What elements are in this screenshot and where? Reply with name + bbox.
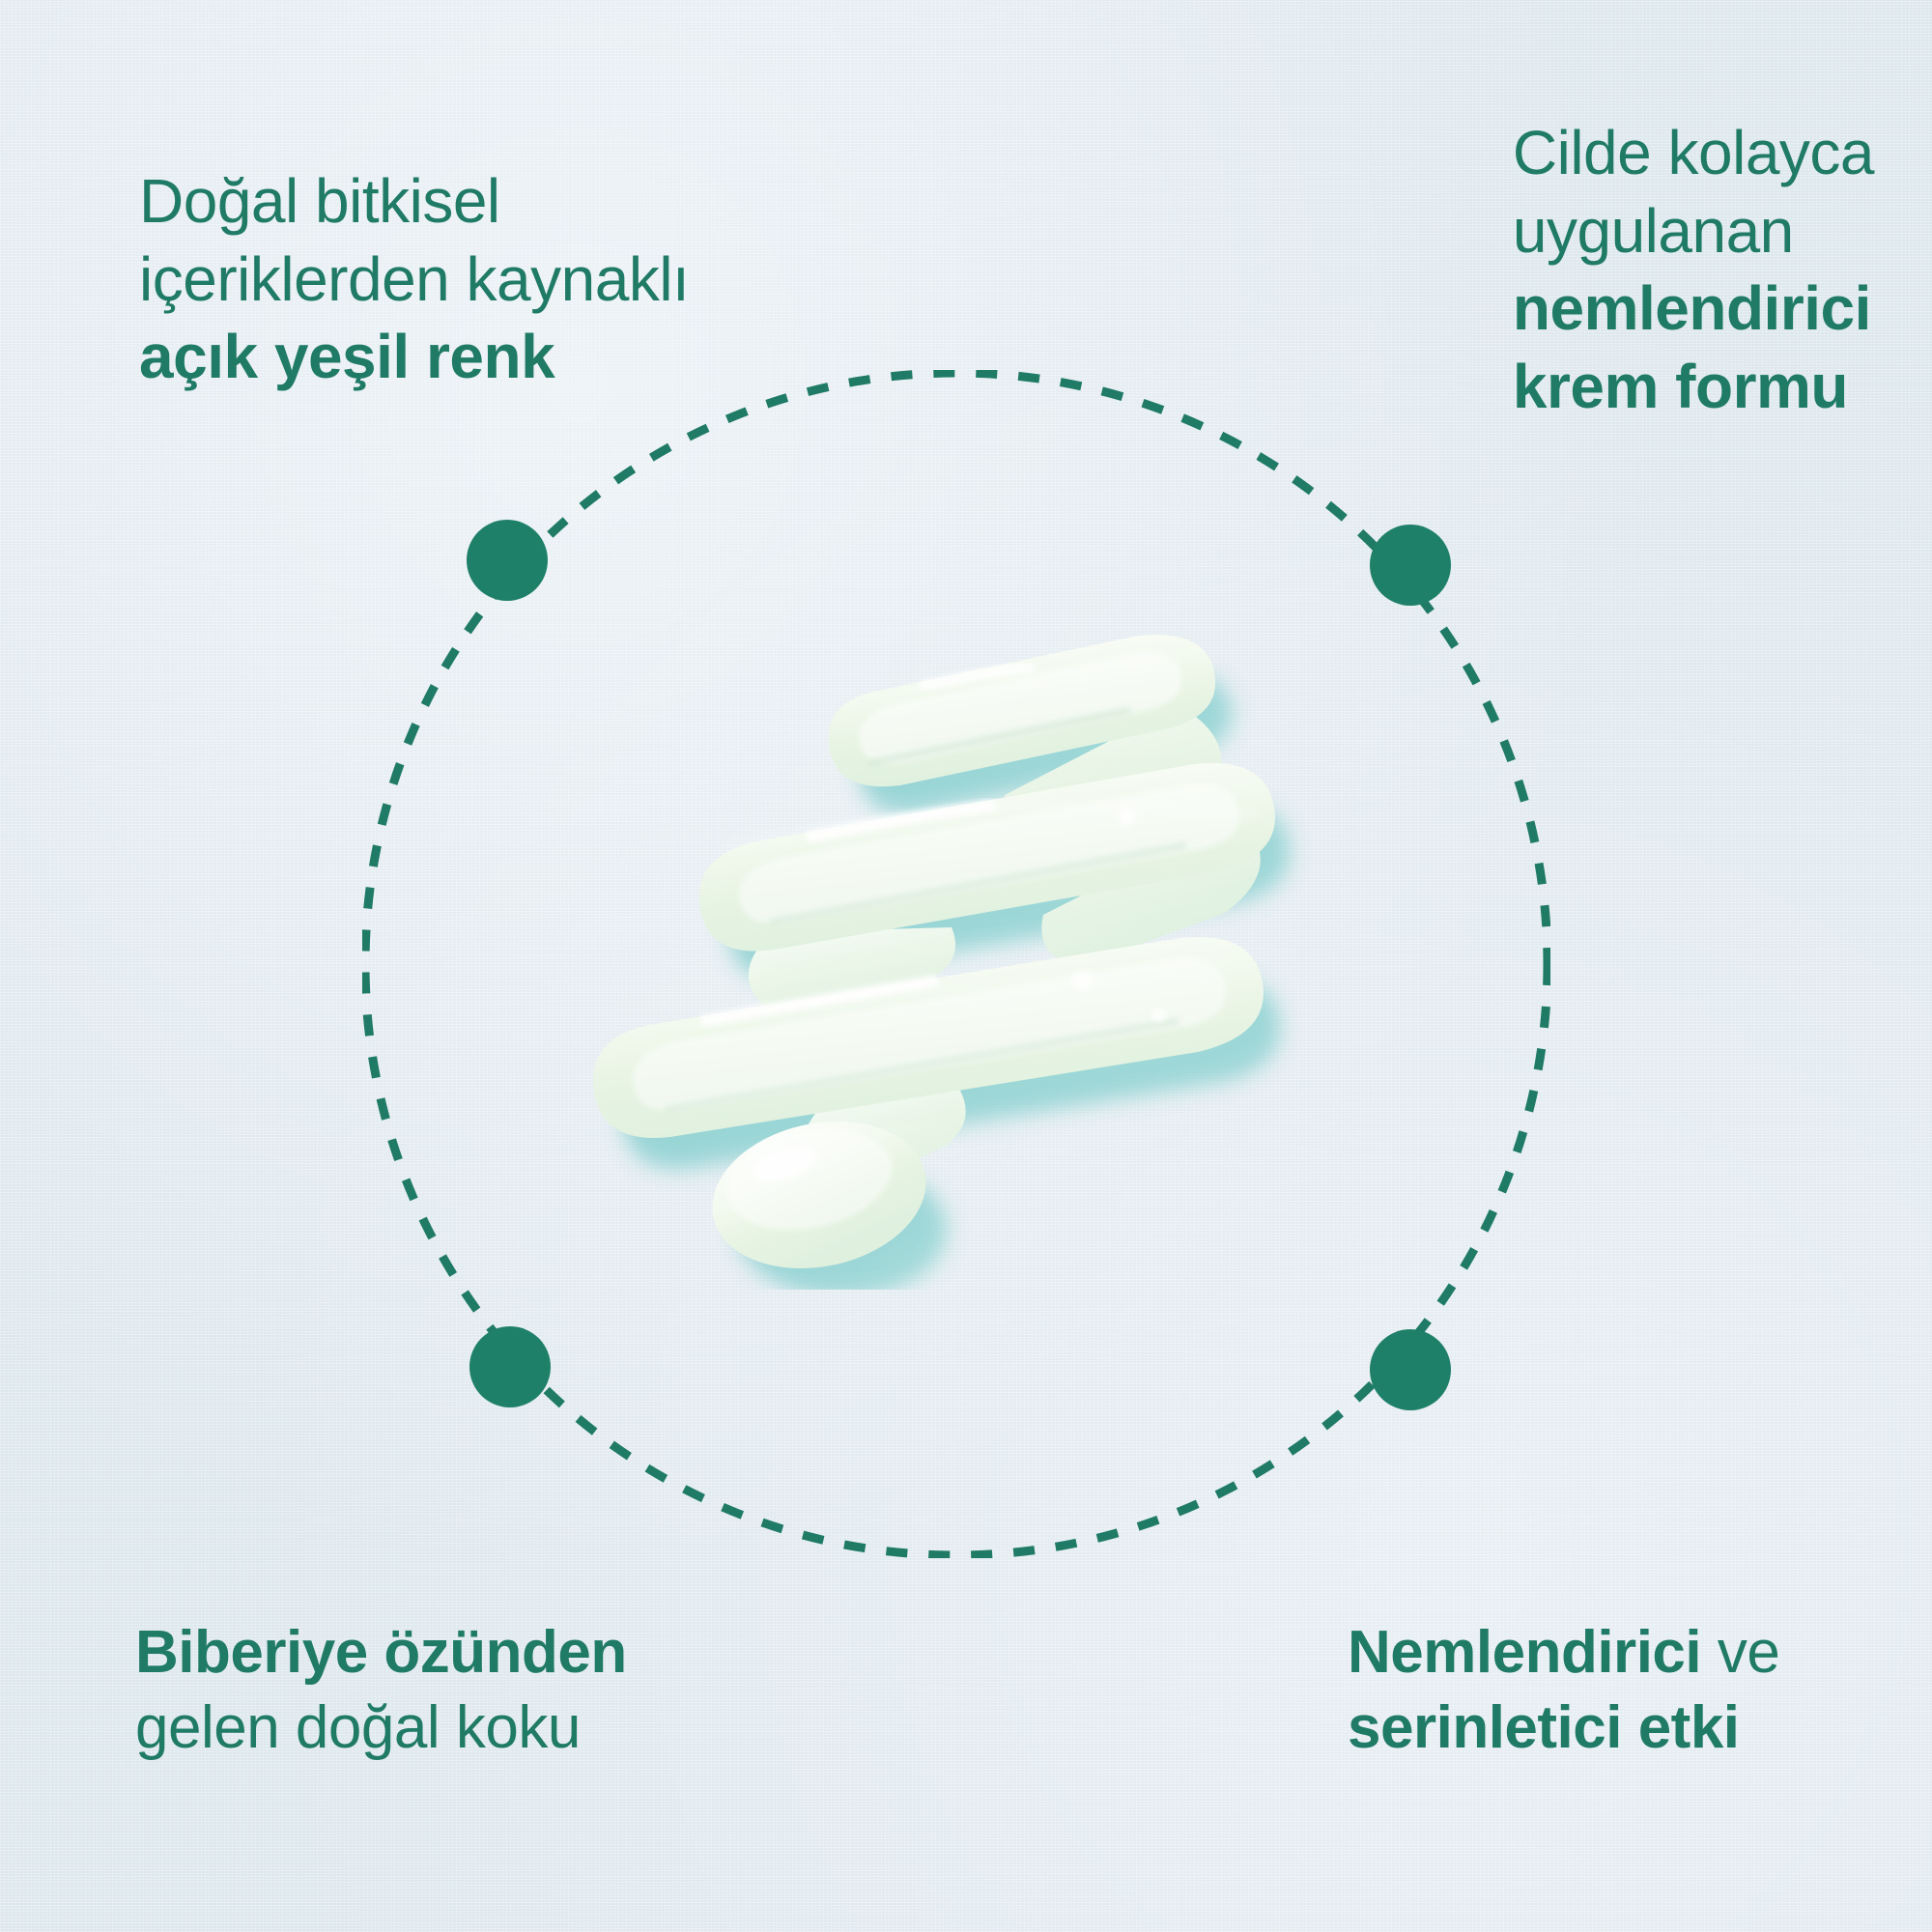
node-dot-bottom-right: [1370, 1329, 1451, 1410]
callout-top-left-line3: açık yeşil renk: [139, 318, 689, 396]
node-dot-top-left: [467, 520, 548, 601]
callout-top-right-line4: krem formu: [1513, 348, 1874, 426]
callout-bottom-left-line2: gelen doğal koku: [135, 1690, 627, 1766]
callout-top-left-line1: Doğal bitkisel: [139, 162, 689, 241]
callout-bottom-left: Biberiye özünden gelen doğal koku: [135, 1615, 627, 1766]
callout-top-left: Doğal bitkisel içeriklerden kaynaklı açı…: [139, 162, 689, 396]
callout-top-right: Cilde kolayca uygulanan nemlendirici kre…: [1513, 114, 1874, 426]
callout-top-right-line2: uygulanan: [1513, 192, 1874, 270]
callout-bottom-right-line1: Nemlendirici ve: [1348, 1615, 1779, 1690]
callout-bottom-right-line1-bold: Nemlendirici: [1348, 1619, 1701, 1686]
callout-top-right-line1: Cilde kolayca: [1513, 114, 1874, 192]
cream-swatch-image: [580, 526, 1343, 1290]
callout-bottom-left-line1: Biberiye özünden: [135, 1615, 627, 1690]
node-dot-top-right: [1370, 525, 1451, 606]
infographic-stage: Doğal bitkisel içeriklerden kaynaklı açı…: [0, 0, 1932, 1932]
callout-top-left-line2: içeriklerden kaynaklı: [139, 241, 689, 319]
callout-bottom-right: Nemlendirici ve serinletici etki: [1348, 1615, 1779, 1766]
node-dot-bottom-left: [469, 1326, 551, 1407]
callout-bottom-right-line2: serinletici etki: [1348, 1690, 1779, 1766]
callout-bottom-right-line1-light: ve: [1701, 1619, 1779, 1686]
callout-top-right-line3: nemlendirici: [1513, 270, 1874, 348]
